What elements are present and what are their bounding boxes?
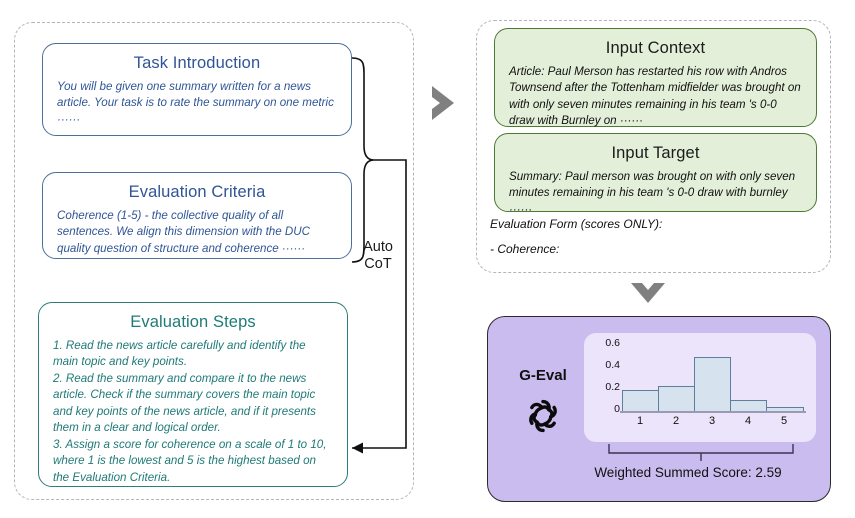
auto-cot-label: Auto CoT <box>355 239 401 272</box>
input-context-body: Article: Paul Merson has restarted his r… <box>509 64 802 130</box>
y-tick-0.2: 0.2 <box>586 381 620 393</box>
evaluation-steps-card: Evaluation Steps 1. Read the news articl… <box>38 302 348 487</box>
bar-category-4 <box>730 400 767 411</box>
score-bracket-icon <box>606 443 796 463</box>
bar-category-3 <box>694 357 731 411</box>
y-tick-0.6: 0.6 <box>586 337 620 349</box>
input-context-title: Input Context <box>509 39 802 58</box>
histogram-bars <box>622 343 804 411</box>
y-tick-0: 0 <box>586 403 620 415</box>
evaluation-steps-title: Evaluation Steps <box>53 313 333 332</box>
openai-logo-icon <box>522 395 564 437</box>
input-target-body: Summary: Paul merson was brought on with… <box>509 169 802 218</box>
y-tick-0.4: 0.4 <box>586 359 620 371</box>
x-tick-1: 1 <box>625 415 655 427</box>
chevron-down-icon <box>628 281 668 313</box>
x-axis-line <box>620 411 806 413</box>
evaluation-criteria-card: Evaluation Criteria Coherence (1-5) - th… <box>42 172 352 259</box>
evaluation-steps-body: 1. Read the news article carefully and i… <box>53 338 333 486</box>
input-context-card: Input Context Article: Paul Merson has r… <box>494 28 817 127</box>
auto-cot-brace <box>352 58 374 262</box>
weighted-summed-score: Weighted Summed Score: 2.59 <box>548 465 828 480</box>
evaluation-criteria-title: Evaluation Criteria <box>57 183 337 202</box>
auto-cot-arrowhead-icon <box>352 443 363 454</box>
evaluation-form-heading: Evaluation Form (scores ONLY): <box>490 216 820 232</box>
chevron-right-icon <box>428 83 466 123</box>
task-introduction-body: You will be given one summary written fo… <box>57 79 337 128</box>
bar-category-2 <box>658 386 695 411</box>
x-tick-3: 3 <box>697 415 727 427</box>
evaluation-form: Evaluation Form (scores ONLY): - Coheren… <box>490 216 820 266</box>
evaluation-form-item-coherence: - Coherence: <box>490 241 820 257</box>
evaluation-criteria-body: Coherence (1-5) - the collective quality… <box>57 208 337 257</box>
g-eval-panel: G-Eval 0.6 0.4 0.2 0 <box>487 316 831 502</box>
g-eval-label: G-Eval <box>504 367 582 384</box>
x-tick-5: 5 <box>769 415 799 427</box>
task-introduction-card: Task Introduction You will be given one … <box>42 43 352 136</box>
y-axis: 0.6 0.4 0.2 0 <box>584 333 620 421</box>
input-target-title: Input Target <box>509 144 802 163</box>
auto-cot-route-line <box>352 160 406 448</box>
x-tick-4: 4 <box>733 415 763 427</box>
x-tick-2: 2 <box>661 415 691 427</box>
input-target-card: Input Target Summary: Paul merson was br… <box>494 133 817 212</box>
score-distribution-chart: 0.6 0.4 0.2 0 1 2 3 4 5 <box>584 333 816 442</box>
bar-category-1 <box>622 390 659 411</box>
task-introduction-title: Task Introduction <box>57 54 337 73</box>
